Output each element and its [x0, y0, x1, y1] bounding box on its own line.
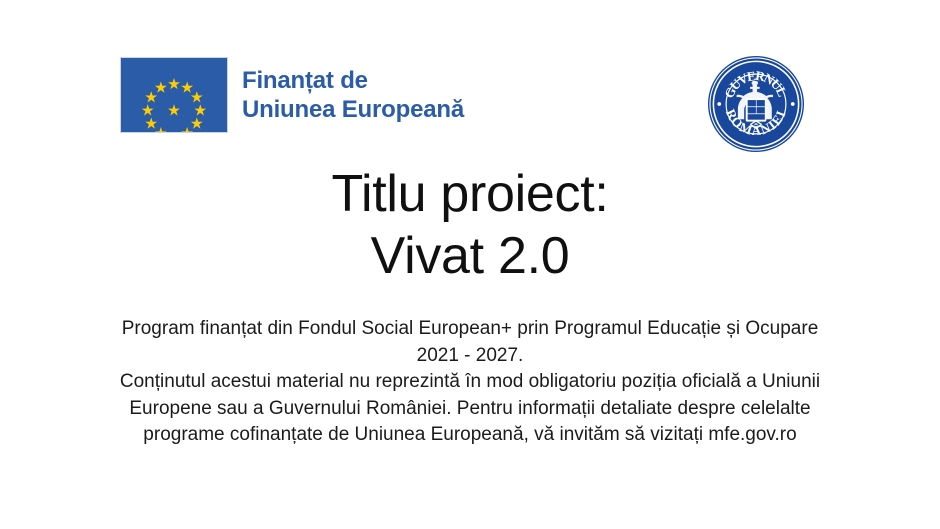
- guvernul-romaniei-seal-icon: GUVERNUL ROMÂNIEI: [707, 55, 805, 153]
- european-union-flag-icon: [120, 57, 228, 133]
- eu-funding-logo: Finanțat de Uniunea Europeană: [120, 57, 464, 133]
- eu-funding-label: Finanțat de Uniunea Europeană: [242, 66, 464, 124]
- eu-funding-label-line2: Uniunea Europeană: [242, 95, 464, 124]
- disclaimer-text-block: Program finanțat din Fondul Social Europ…: [100, 316, 840, 449]
- page-title-line2: Vivat 2.0: [0, 225, 940, 287]
- page-title: Titlu proiect: Vivat 2.0: [0, 163, 940, 287]
- funding-acknowledgment-slide: Finanțat de Uniunea Europeană GUVERNUL R…: [0, 0, 940, 529]
- eu-funding-label-line1: Finanțat de: [242, 66, 464, 95]
- funding-program-paragraph: Program finanțat din Fondul Social Europ…: [100, 316, 840, 369]
- logo-header-row: Finanțat de Uniunea Europeană GUVERNUL R…: [0, 0, 940, 160]
- page-title-line1: Titlu proiect:: [0, 163, 940, 225]
- disclaimer-paragraph: Conținutul acestui material nu reprezint…: [100, 369, 840, 449]
